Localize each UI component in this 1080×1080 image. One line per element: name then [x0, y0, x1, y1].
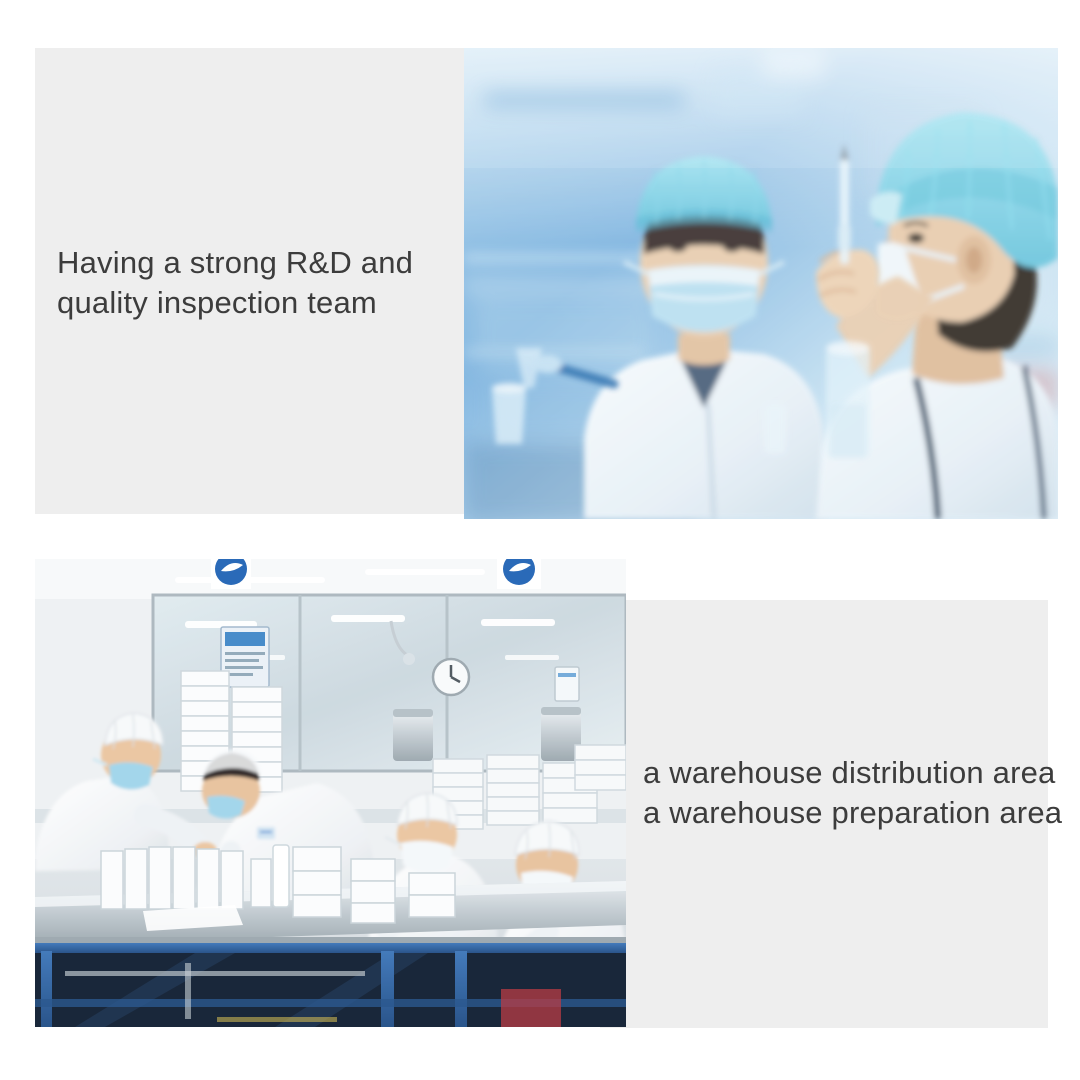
warehouse-packing-illustration [35, 559, 626, 1027]
warehouse-packing-photo [35, 559, 626, 1027]
lab-inspection-photo [464, 48, 1058, 519]
top-caption-text: Having a strong R&D and quality inspecti… [57, 243, 477, 323]
page-canvas: Having a strong R&D and quality inspecti… [0, 0, 1080, 1080]
lab-inspection-illustration [464, 48, 1058, 519]
bottom-caption-text: a warehouse distribution area a warehous… [643, 753, 1063, 833]
